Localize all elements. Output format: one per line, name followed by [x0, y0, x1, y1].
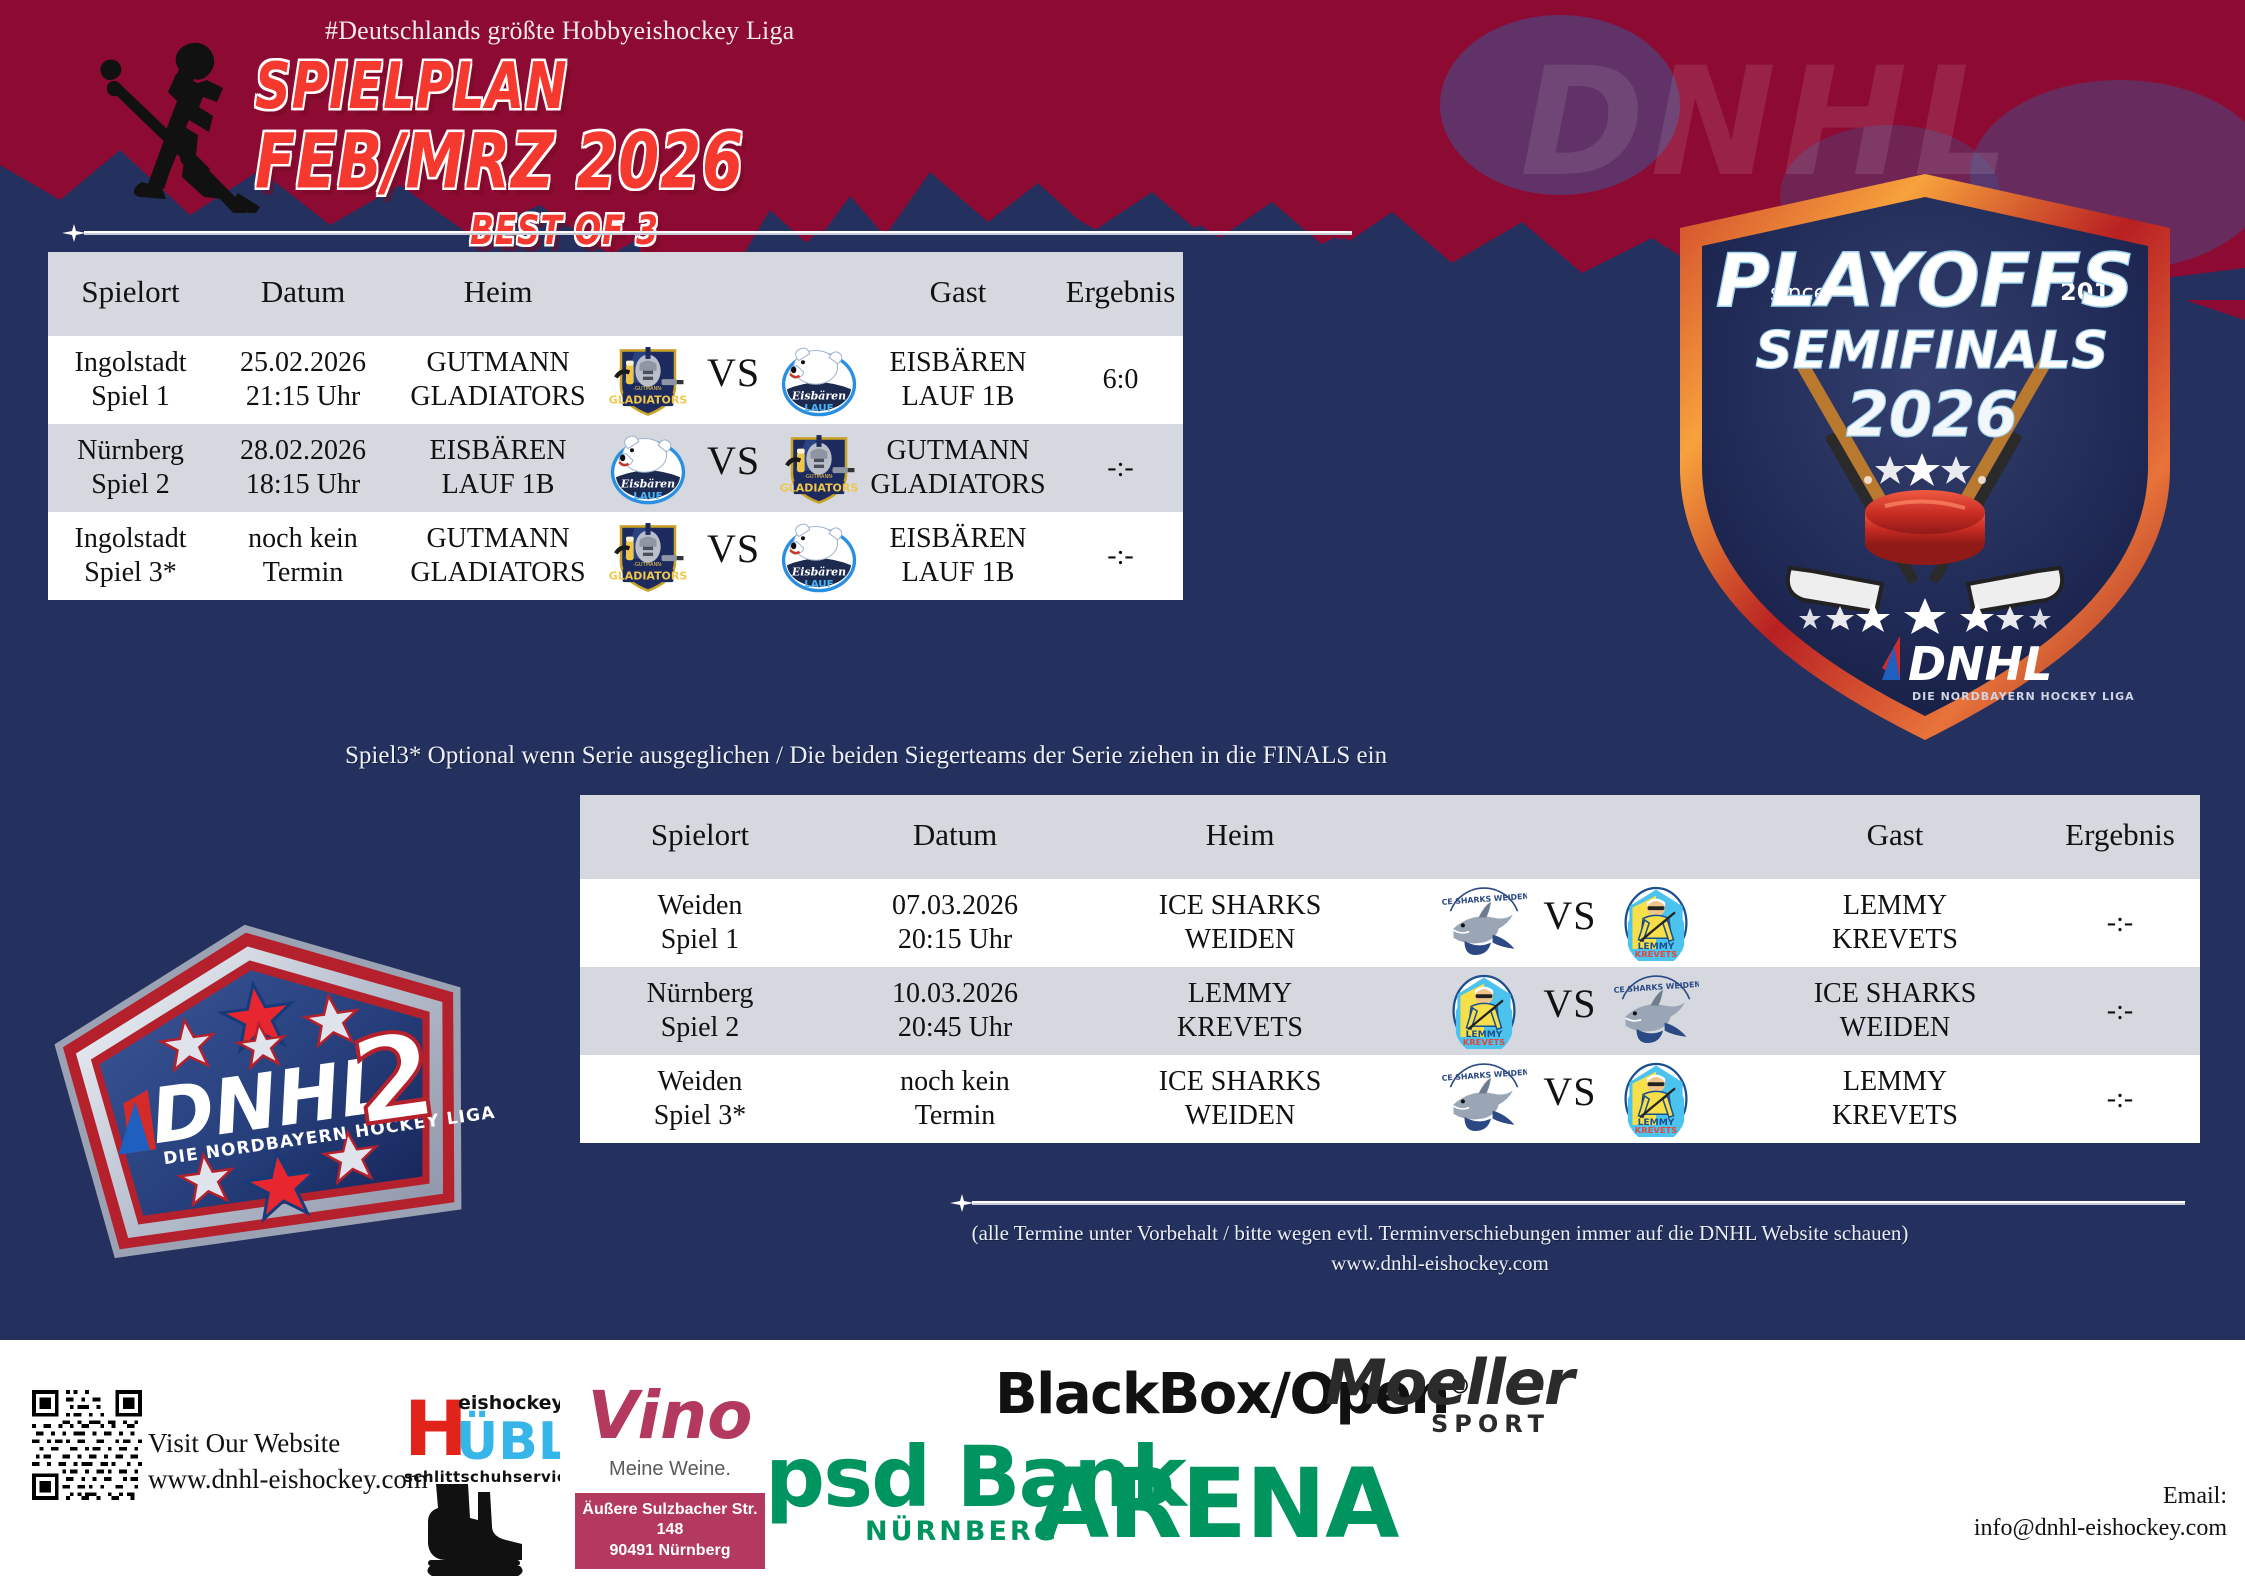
heim-name-line2: GLADIATORS	[395, 380, 601, 414]
spielort-game: Spiel 1	[582, 923, 818, 957]
gast-name-line2: KREVETS	[1752, 1099, 2038, 1133]
spielort-city: Ingolstadt	[50, 346, 211, 380]
vino-address-line1: Äußere Sulzbacher Str. 148	[581, 1500, 759, 1542]
table-row: WeidenSpiel 3*noch keinTerminICE SHARKSW…	[580, 1055, 2200, 1143]
email-text: Email: info@dnhl-eishockey.com	[1974, 1480, 2227, 1545]
poster-canvas: DNHL #Deutschlands größte Hobbyeishockey…	[0, 0, 2245, 1587]
datum-date: noch kein	[822, 1065, 1088, 1099]
vs-label: VS	[707, 438, 760, 483]
cell-ergebnis: 6:0	[1058, 336, 1183, 424]
cell-heim: GUTMANNGLADIATORS	[393, 336, 603, 424]
title-month-year: FEB/MRZ 2026	[255, 125, 917, 201]
datum-date: 28.02.2026	[215, 434, 391, 468]
spielort-city: Weiden	[582, 1065, 818, 1099]
cell-gast: GUTMANNGLADIATORS	[858, 424, 1058, 512]
vs-label: VS	[707, 526, 760, 571]
bottom-note-line1: (alle Termine unter Vorbehalt / bitte we…	[700, 1218, 2180, 1248]
table2-header-row: Spielort Datum Heim Gast Ergebnis	[580, 795, 2200, 879]
eisbaeren-lauf-logo	[776, 342, 862, 418]
cell-datum: noch keinTermin	[213, 512, 393, 600]
shield-playoffs-text: PLAYOFFS	[1716, 238, 2134, 324]
spielort-game: Spiel 2	[582, 1011, 818, 1045]
divider-bar	[84, 231, 1352, 235]
datum-time: Termin	[822, 1099, 1088, 1133]
visit-url[interactable]: www.dnhl-eishockey.com	[148, 1461, 428, 1497]
league-hashtag: #Deutschlands größte Hobbyeishockey Liga	[325, 16, 794, 46]
sparkle-icon	[950, 1194, 974, 1212]
heim-name-line1: EISBÄREN	[395, 434, 601, 468]
ice-sharks-weiden-logo	[1441, 885, 1527, 961]
divider-bar	[972, 1201, 2185, 1205]
table-row: NürnbergSpiel 210.03.202620:45 UhrLEMMYK…	[580, 967, 2200, 1055]
cell-heim: ICE SHARKSWEIDEN	[1090, 1055, 1390, 1143]
cell-ergebnis: -:-	[2040, 967, 2200, 1055]
mid-note: Spiel3* Optional wenn Serie ausgeglichen…	[345, 742, 1387, 770]
cell-gast: LEMMYKREVETS	[1750, 1055, 2040, 1143]
divider-bottom	[950, 1198, 2185, 1208]
sponsor-hubl: H eishockey ÜBL schlittschuhservice	[400, 1383, 560, 1493]
lemmy-krevets-logo	[1441, 973, 1527, 1049]
datum-time: 21:15 Uhr	[215, 380, 391, 414]
datum-date: noch kein	[215, 522, 391, 556]
divider-top	[62, 228, 1352, 238]
vs-label: VS	[1543, 893, 1596, 938]
cell-matchup: VS	[603, 512, 858, 600]
table-row: NürnbergSpiel 228.02.202618:15 UhrEISBÄR…	[48, 424, 1183, 512]
vino-address-line2: 90491 Nürnberg	[581, 1541, 759, 1562]
cell-gast: EISBÄRENLAUF 1B	[858, 512, 1058, 600]
eisbaeren-lauf-logo	[605, 430, 691, 506]
col-spielort: Spielort	[48, 252, 213, 336]
col-gast: Gast	[1750, 795, 2040, 879]
cell-spielort: IngolstadtSpiel 1	[48, 336, 213, 424]
lemmy-krevets-logo	[1613, 885, 1699, 961]
heim-name-line2: KREVETS	[1092, 1011, 1388, 1045]
cell-spielort: WeidenSpiel 1	[580, 879, 820, 967]
cell-spielort: WeidenSpiel 3*	[580, 1055, 820, 1143]
bottom-note: (alle Termine unter Vorbehalt / bitte we…	[700, 1218, 2180, 1279]
vs-label: VS	[1543, 981, 1596, 1026]
heim-name-line2: GLADIATORS	[395, 556, 601, 590]
gast-name-line2: LAUF 1B	[860, 556, 1056, 590]
gast-name-line2: KREVETS	[1752, 923, 2038, 957]
cell-gast: EISBÄRENLAUF 1B	[858, 336, 1058, 424]
sponsor-arena-wordmark: ARENA	[1035, 1448, 1398, 1560]
datum-time: Termin	[215, 556, 391, 590]
svg-text:DIE NORDBAYERN HOCKEY LIGA: DIE NORDBAYERN HOCKEY LIGA	[1912, 690, 2135, 703]
schedule-table-2: Spielort Datum Heim Gast Ergebnis Weiden…	[580, 795, 2200, 1143]
cell-datum: 07.03.202620:15 Uhr	[820, 879, 1090, 967]
svg-text:ÜBL: ÜBL	[456, 1410, 560, 1472]
vs-label: VS	[1543, 1069, 1596, 1114]
col-matchup	[603, 252, 858, 336]
cell-ergebnis: -:-	[2040, 1055, 2200, 1143]
hubl-logo-icon: H eishockey ÜBL schlittschuhservice	[400, 1383, 560, 1488]
gast-name-line1: GUTMANN	[860, 434, 1056, 468]
spielort-city: Nürnberg	[50, 434, 211, 468]
col-spielort: Spielort	[580, 795, 820, 879]
spielort-game: Spiel 2	[50, 468, 211, 502]
datum-time: 20:45 Uhr	[822, 1011, 1088, 1045]
spielort-city: Ingolstadt	[50, 522, 211, 556]
gutmann-gladiators-logo	[605, 518, 691, 594]
heim-name-line2: WEIDEN	[1092, 923, 1388, 957]
cell-heim: ICE SHARKSWEIDEN	[1090, 879, 1390, 967]
heim-name-line2: LAUF 1B	[395, 468, 601, 502]
cell-gast: LEMMYKREVETS	[1750, 879, 2040, 967]
cell-datum: noch keinTermin	[820, 1055, 1090, 1143]
sponsor-vino: Vino Meine Weine. Äußere Sulzbacher Str.…	[575, 1385, 765, 1569]
ice-sharks-weiden-logo	[1441, 1061, 1527, 1137]
email-label: Email:	[1974, 1480, 2227, 1512]
sparkle-icon	[62, 224, 86, 242]
heim-name-line2: WEIDEN	[1092, 1099, 1388, 1133]
shield-semifinals-text: SEMIFINALS	[1755, 321, 2108, 381]
table-row: IngolstadtSpiel 125.02.202621:15 UhrGUTM…	[48, 336, 1183, 424]
table-row: WeidenSpiel 107.03.202620:15 UhrICE SHAR…	[580, 879, 2200, 967]
cell-datum: 10.03.202620:45 Uhr	[820, 967, 1090, 1055]
gast-name-line1: EISBÄREN	[860, 522, 1056, 556]
visit-label: Visit Our Website	[148, 1425, 428, 1461]
datum-date: 10.03.2026	[822, 977, 1088, 1011]
vs-label: VS	[707, 350, 760, 395]
heim-name-line1: GUTMANN	[395, 346, 601, 380]
cell-heim: GUTMANNGLADIATORS	[393, 512, 603, 600]
gast-name-line2: WEIDEN	[1752, 1011, 2038, 1045]
vino-tagline: Meine Weine.	[575, 1458, 765, 1481]
gast-name-line1: LEMMY	[1752, 889, 2038, 923]
cell-heim: EISBÄRENLAUF 1B	[393, 424, 603, 512]
schedule-table-1: Spielort Datum Heim Gast Ergebnis Ingols…	[48, 252, 1183, 600]
table1-header-row: Spielort Datum Heim Gast Ergebnis	[48, 252, 1183, 336]
vino-address: Äußere Sulzbacher Str. 148 90491 Nürnber…	[575, 1493, 765, 1569]
col-heim: Heim	[393, 252, 603, 336]
spielort-game: Spiel 1	[50, 380, 211, 414]
col-heim: Heim	[1090, 795, 1390, 879]
col-datum: Datum	[820, 795, 1090, 879]
dnhl2-logo: DNHL DIE NORDBAYERN HOCKEY LIGA 2	[45, 905, 495, 1300]
cell-spielort: IngolstadtSpiel 3*	[48, 512, 213, 600]
cell-ergebnis: -:-	[2040, 879, 2200, 967]
moeller-wordmark: Moeller	[1325, 1352, 1550, 1414]
visit-website-text: Visit Our Website www.dnhl-eishockey.com	[148, 1425, 428, 1498]
cell-matchup: VS	[603, 424, 858, 512]
cell-matchup: VS	[603, 336, 858, 424]
gutmann-gladiators-logo	[605, 342, 691, 418]
cell-spielort: NürnbergSpiel 2	[48, 424, 213, 512]
gast-name-line2: GLADIATORS	[860, 468, 1056, 502]
heim-name-line1: ICE SHARKS	[1092, 1065, 1388, 1099]
cell-datum: 25.02.202621:15 Uhr	[213, 336, 393, 424]
spielort-game: Spiel 3*	[50, 556, 211, 590]
title-spielplan: SPIELPLAN	[255, 55, 917, 119]
svg-text:eishockey: eishockey	[458, 1392, 560, 1414]
svg-text:DNHL: DNHL	[1908, 637, 2053, 691]
gast-name-line1: LEMMY	[1752, 1065, 2038, 1099]
cell-heim: LEMMYKREVETS	[1090, 967, 1390, 1055]
heim-name-line1: GUTMANN	[395, 522, 601, 556]
col-matchup	[1390, 795, 1750, 879]
col-gast: Gast	[858, 252, 1058, 336]
cell-matchup: VS	[1390, 1055, 1750, 1143]
table-row: IngolstadtSpiel 3*noch keinTerminGUTMANN…	[48, 512, 1183, 600]
eisbaeren-lauf-logo	[776, 518, 862, 594]
bottom-note-line2: www.dnhl-eishockey.com	[700, 1248, 2180, 1278]
spielort-city: Nürnberg	[582, 977, 818, 1011]
ice-skate-icon	[420, 1480, 530, 1580]
sponsor-moeller-sport: Moeller SPORT	[1325, 1352, 1550, 1438]
gast-name-line1: ICE SHARKS	[1752, 977, 2038, 1011]
poster-title-block: SPIELPLAN FEB/MRZ 2026 BEST OF 3	[255, 55, 975, 245]
qr-code-icon[interactable]	[32, 1390, 142, 1500]
cell-spielort: NürnbergSpiel 2	[580, 967, 820, 1055]
datum-date: 25.02.2026	[215, 346, 391, 380]
col-datum: Datum	[213, 252, 393, 336]
col-ergebnis: Ergebnis	[2040, 795, 2200, 879]
datum-date: 07.03.2026	[822, 889, 1088, 923]
datum-time: 20:15 Uhr	[822, 923, 1088, 957]
heim-name-line1: ICE SHARKS	[1092, 889, 1388, 923]
gast-name-line1: EISBÄREN	[860, 346, 1056, 380]
spielort-game: Spiel 3*	[582, 1099, 818, 1133]
shield-year-text: 2026	[1846, 378, 2019, 451]
email-value[interactable]: info@dnhl-eishockey.com	[1974, 1512, 2227, 1544]
spielort-city: Weiden	[582, 889, 818, 923]
cell-ergebnis: -:-	[1058, 424, 1183, 512]
cell-gast: ICE SHARKSWEIDEN	[1750, 967, 2040, 1055]
cell-ergebnis: -:-	[1058, 512, 1183, 600]
lemmy-krevets-logo	[1613, 1061, 1699, 1137]
datum-time: 18:15 Uhr	[215, 468, 391, 502]
gutmann-gladiators-logo	[776, 430, 862, 506]
playoffs-shield-badge: DNHL DIE NORDBAYERN HOCKEY LIGA since 20…	[1660, 168, 2190, 748]
cell-matchup: VS	[1390, 967, 1750, 1055]
cell-matchup: VS	[1390, 879, 1750, 967]
cell-datum: 28.02.202618:15 Uhr	[213, 424, 393, 512]
ice-sharks-weiden-logo	[1613, 973, 1699, 1049]
heim-name-line1: LEMMY	[1092, 977, 1388, 1011]
col-ergebnis: Ergebnis	[1058, 252, 1183, 336]
vino-wordmark: Vino	[575, 1385, 765, 1448]
gast-name-line2: LAUF 1B	[860, 380, 1056, 414]
